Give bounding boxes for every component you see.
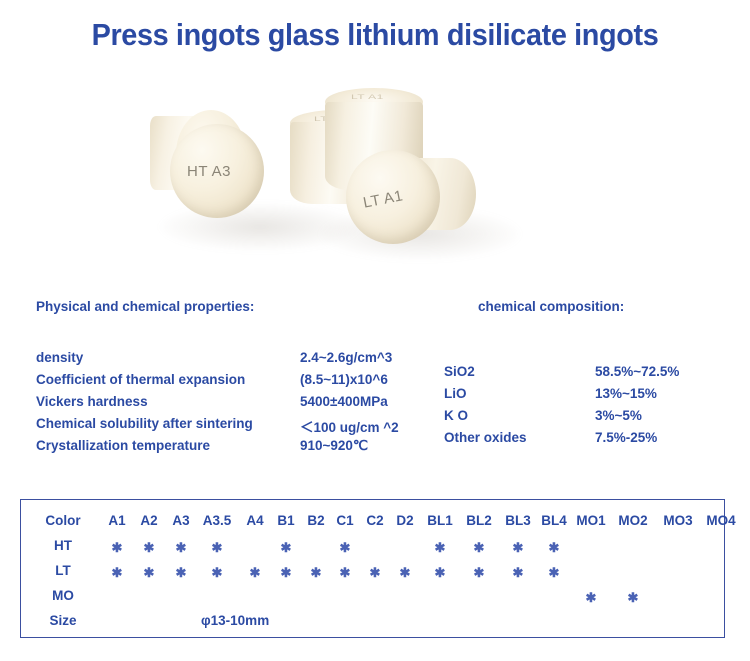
shade-available-mark: ✱ — [474, 541, 485, 554]
composition-row-ko-value: 3%~5% — [595, 408, 642, 423]
shade-available-mark: ✱ — [212, 541, 223, 554]
shade-available-mark: ✱ — [311, 566, 322, 579]
composition-row-other-value: 7.5%-25% — [595, 430, 657, 445]
shade-table-column-header: BL4 — [541, 513, 567, 528]
chemical-composition-heading: chemical composition: — [478, 299, 624, 314]
ingot-engraving-label: LT A1 — [351, 93, 384, 101]
physical-row-hardness-value: 5400±400MPa — [300, 394, 388, 409]
shade-table-column-header: B1 — [277, 513, 294, 528]
shade-available-mark: ✱ — [144, 541, 155, 554]
shade-table-column-header: BL2 — [466, 513, 492, 528]
shade-table-row-label: MO — [52, 588, 74, 603]
shade-available-mark: ✱ — [435, 566, 446, 579]
shade-table-column-header: A3 — [172, 513, 189, 528]
composition-row-other-label: Other oxides — [444, 430, 527, 445]
physical-row-density-value: 2.4~2.6g/cm^3 — [300, 350, 392, 365]
shade-available-mark: ✱ — [112, 566, 123, 579]
shade-table-column-header: A3.5 — [203, 513, 232, 528]
physical-row-hardness-label: Vickers hardness — [36, 394, 148, 409]
physical-row-density-label: density — [36, 350, 83, 365]
shade-table-row-label: LT — [55, 563, 71, 578]
composition-row-lio-value: 13%~15% — [595, 386, 657, 401]
shade-available-mark: ✱ — [549, 541, 560, 554]
shade-table-column-header: BL3 — [505, 513, 531, 528]
shade-table-corner-label: Color — [45, 513, 80, 528]
composition-row-ko-label: K O — [444, 408, 468, 423]
shade-table-column-header: A1 — [108, 513, 125, 528]
shade-available-mark: ✱ — [586, 591, 597, 604]
shade-available-mark: ✱ — [250, 566, 261, 579]
composition-row-sio2-value: 58.5%~72.5% — [595, 364, 679, 379]
page-title: Press ingots glass lithium disilicate in… — [26, 17, 724, 53]
shade-available-mark: ✱ — [513, 566, 524, 579]
shade-table-column-header: MO1 — [576, 513, 605, 528]
shade-table-column-header: A2 — [140, 513, 157, 528]
shade-available-mark: ✱ — [340, 566, 351, 579]
composition-row-sio2-label: SiO2 — [444, 364, 475, 379]
shade-available-mark: ✱ — [112, 541, 123, 554]
shade-table-column-header: MO4 — [706, 513, 735, 528]
shade-availability-table: ColorA1A2A3A3.5A4B1B2C1C2D2BL1BL2BL3BL4M… — [20, 499, 725, 638]
shade-available-mark: ✱ — [370, 566, 381, 579]
shade-available-mark: ✱ — [474, 566, 485, 579]
shade-table-column-header: D2 — [396, 513, 413, 528]
composition-row-lio-label: LiO — [444, 386, 467, 401]
shade-table-column-header: A4 — [246, 513, 263, 528]
shade-available-mark: ✱ — [549, 566, 560, 579]
physical-row-cte-label: Coefficient of thermal expansion — [36, 372, 245, 387]
physical-row-crystallization-label: Crystallization temperature — [36, 438, 210, 453]
product-photo: LT A1 HT A3 LT A1 LT A1 — [150, 88, 510, 273]
shade-available-mark: ✱ — [212, 566, 223, 579]
shade-table-column-header: C2 — [366, 513, 383, 528]
shade-table-column-header: B2 — [307, 513, 324, 528]
shade-available-mark: ✱ — [144, 566, 155, 579]
shade-table-size-label: Size — [49, 613, 76, 628]
shade-table-column-header: BL1 — [427, 513, 453, 528]
physical-row-solubility-value: ＜100 ug/cm ^2 — [300, 416, 399, 436]
shade-available-mark: ✱ — [435, 541, 446, 554]
shade-available-mark: ✱ — [340, 541, 351, 554]
shade-available-mark: ✱ — [281, 566, 292, 579]
shade-available-mark: ✱ — [281, 541, 292, 554]
shade-available-mark: ✱ — [513, 541, 524, 554]
physical-row-solubility-label: Chemical solubility after sintering — [36, 416, 253, 431]
shade-available-mark: ✱ — [400, 566, 411, 579]
shade-table-column-header: C1 — [336, 513, 353, 528]
shade-available-mark: ✱ — [628, 591, 639, 604]
shade-table-column-header: MO3 — [663, 513, 692, 528]
shade-available-mark: ✱ — [176, 541, 187, 554]
shade-table-size-value: φ13-10mm — [201, 613, 269, 628]
shade-table-row-label: HT — [54, 538, 72, 553]
ingot-engraving-label: HT A3 — [187, 163, 231, 180]
shade-available-mark: ✱ — [176, 566, 187, 579]
physical-row-crystallization-value: 910~920℃ — [300, 438, 368, 454]
shade-table-column-header: MO2 — [618, 513, 647, 528]
physical-properties-heading: Physical and chemical properties: — [36, 299, 254, 314]
physical-row-cte-value: (8.5~11)x10^6 — [300, 372, 388, 387]
